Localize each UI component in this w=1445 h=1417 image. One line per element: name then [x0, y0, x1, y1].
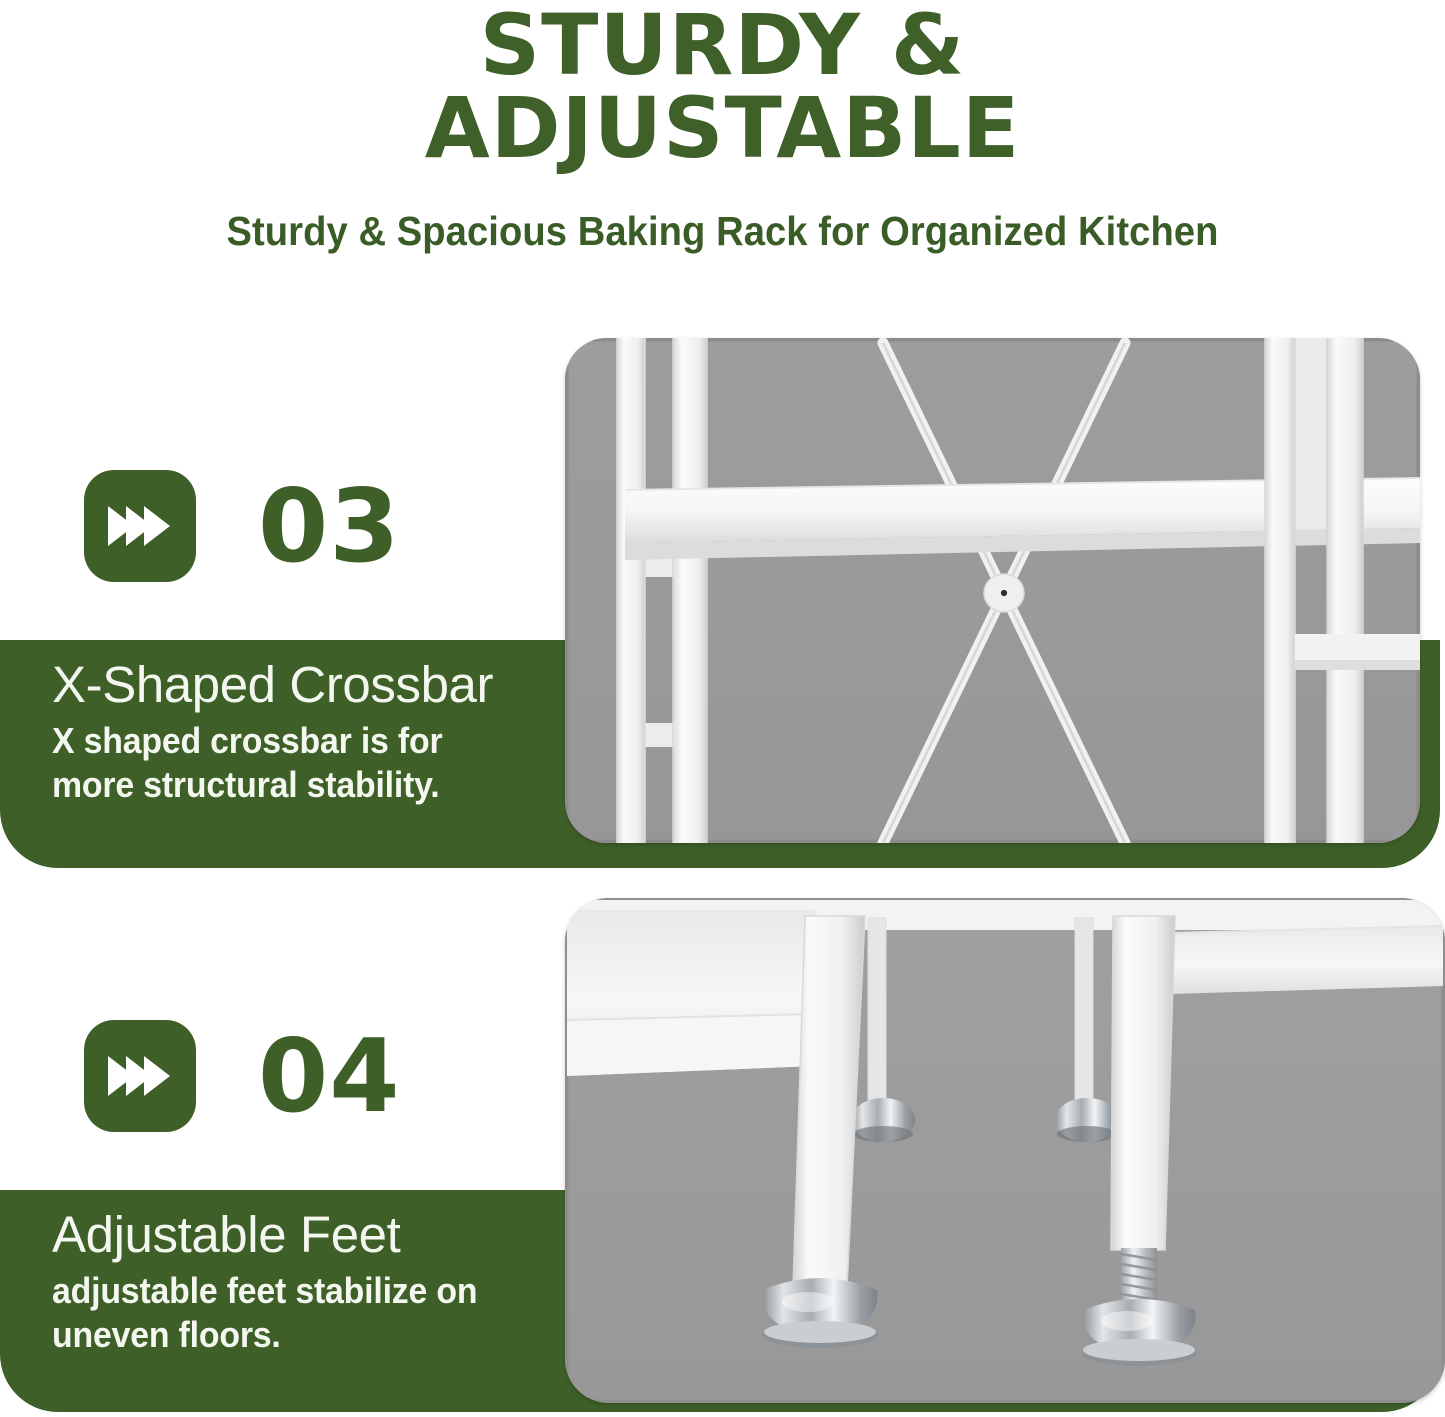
banner-text-block-04: Adjustable Feet adjustable feet stabiliz…: [52, 1206, 592, 1357]
feature-heading-03: X-Shaped Crossbar: [52, 656, 592, 713]
feature-photo-04: [565, 898, 1445, 1403]
page-title: STURDY & ADJUSTABLE: [0, 4, 1445, 170]
feature-section-04: Adjustable Feet adjustable feet stabiliz…: [0, 890, 1445, 1417]
step-badge-03: 03: [84, 470, 401, 582]
feature-body-03: X shaped crossbar is for more structural…: [52, 719, 560, 807]
feature-heading-04: Adjustable Feet: [52, 1206, 592, 1263]
step-badge-04: 04: [84, 1020, 401, 1132]
infographic-page: STURDY & ADJUSTABLE Sturdy & Spacious Ba…: [0, 0, 1445, 1417]
feature-body-line-2: uneven floors.: [52, 1313, 560, 1357]
feature-body-line-2: more structural stability.: [52, 763, 560, 807]
x-crossbar-rack-illustration: [565, 338, 1420, 843]
feature-section-03: X-Shaped Crossbar X shaped crossbar is f…: [0, 330, 1445, 875]
step-number-04: 04: [258, 1026, 401, 1127]
feature-body-line-1: X shaped crossbar is for: [52, 719, 560, 763]
feature-body-04: adjustable feet stabilize on uneven floo…: [52, 1269, 560, 1357]
feature-photo-03: [565, 338, 1420, 843]
title-line-2: ADJUSTABLE: [0, 87, 1445, 170]
fast-forward-icon: [84, 1020, 196, 1132]
adjustable-feet-illustration: [565, 898, 1445, 1403]
step-number-03: 03: [258, 476, 401, 577]
page-header: STURDY & ADJUSTABLE Sturdy & Spacious Ba…: [0, 0, 1445, 255]
banner-text-block-03: X-Shaped Crossbar X shaped crossbar is f…: [52, 656, 592, 807]
feature-body-line-1: adjustable feet stabilize on: [52, 1269, 560, 1313]
page-subtitle: Sturdy & Spacious Baking Rack for Organi…: [51, 208, 1395, 255]
fast-forward-icon: [84, 470, 196, 582]
